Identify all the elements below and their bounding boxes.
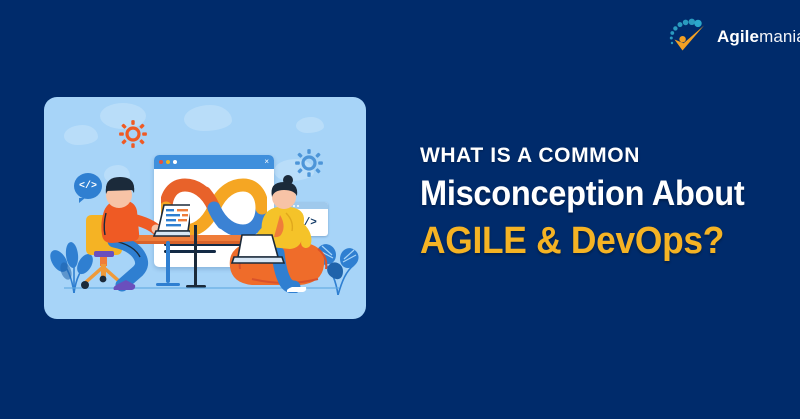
brand-name-light: mania [759, 27, 800, 46]
gear-icon [294, 148, 324, 178]
brand-logo[interactable]: Agilemania [663, 8, 795, 64]
brand-name-bold: Agile [717, 27, 759, 46]
person-left [70, 167, 190, 292]
window-dot-white [173, 160, 177, 164]
close-icon[interactable]: × [264, 158, 269, 166]
person-right [226, 175, 348, 293]
gear-icon [118, 119, 148, 149]
headline-kicker: WHAT IS A COMMON [420, 145, 790, 167]
headline-block: WHAT IS A COMMON Misconception About AGI… [420, 145, 790, 260]
window-dot-red [159, 160, 163, 164]
agilemania-dots-checkmark-icon [663, 12, 711, 60]
display-pole [194, 225, 197, 287]
brand-wordmark: Agilemania [717, 28, 800, 45]
decor-blob [184, 105, 232, 131]
illustration-panel: </> </> [44, 97, 366, 319]
decor-blob [64, 125, 98, 145]
headline-accent: AGILE & DevOps? [420, 222, 764, 261]
window-dot-yellow [166, 160, 170, 164]
decor-blob [296, 117, 324, 133]
headline-main: Misconception About [420, 176, 764, 212]
banner-root: Agilemania [0, 0, 800, 419]
